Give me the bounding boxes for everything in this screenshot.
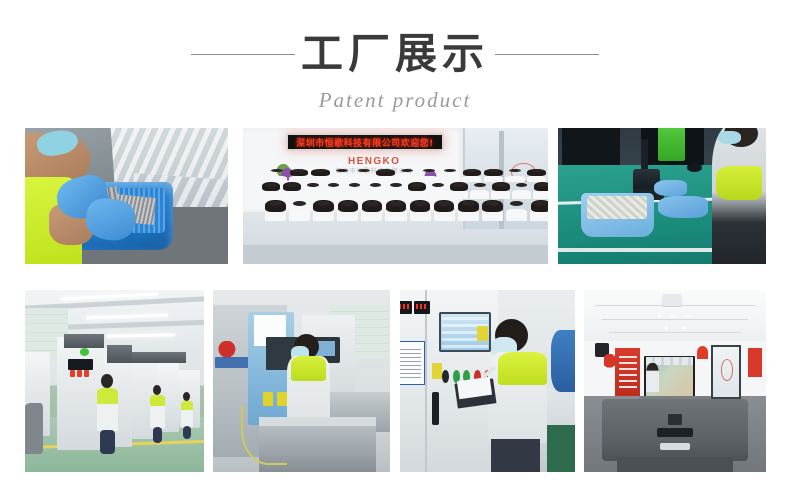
gallery-photo-company-group[interactable]: 深圳市恒歌科技有限公司欢迎您! HENGKO 深圳市恒歌科技有限公司	[243, 128, 548, 264]
gallery-photo-process-recording[interactable]	[400, 290, 575, 472]
gallery-photo-cnc-operator[interactable]	[213, 290, 390, 472]
photo-scene	[400, 290, 575, 472]
gallery-photo-conference-meeting[interactable]	[584, 290, 766, 472]
photo-scene: 深圳市恒歌科技有限公司欢迎您! HENGKO 深圳市恒歌科技有限公司	[243, 128, 548, 264]
photo-scene	[213, 290, 390, 472]
photo-scene	[584, 290, 766, 472]
gallery-photo-assembly-sorting[interactable]	[25, 128, 228, 264]
photo-scene	[558, 128, 766, 264]
photo-scene	[25, 128, 228, 264]
photo-gallery: 深圳市恒歌科技有限公司欢迎您! HENGKO 深圳市恒歌科技有限公司	[0, 0, 790, 500]
gallery-photo-microscope-inspection[interactable]	[558, 128, 766, 264]
factory-showcase-page: 工厂展示 Patent product	[0, 0, 790, 500]
gallery-photo-production-line[interactable]	[25, 290, 204, 472]
photo-scene	[25, 290, 204, 472]
group-people	[243, 128, 548, 264]
